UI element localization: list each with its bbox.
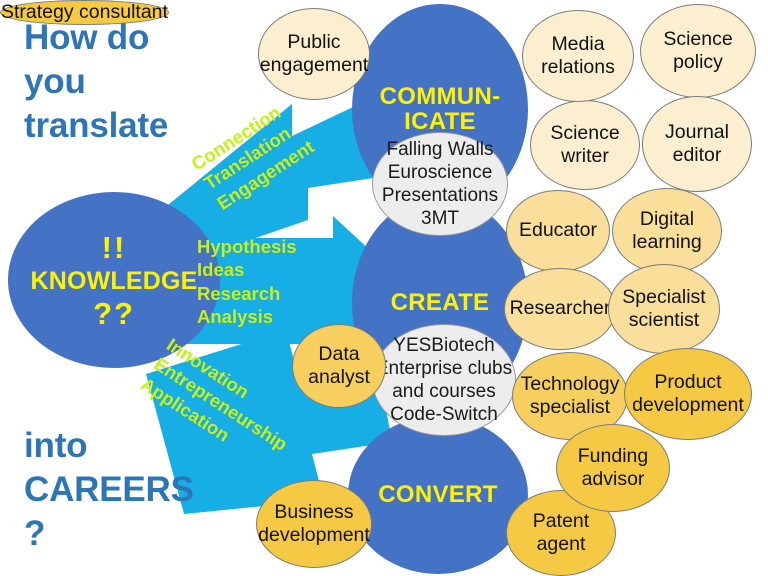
career-educator[interactable]: Educator [506,190,610,272]
hub-convert[interactable]: CONVERT [348,416,528,574]
diagram-canvas: Connection Translation Engagement Hypoth… [0,0,768,576]
hub-communicate-line2: ICATE [396,109,484,134]
career-digital-learning[interactable]: Digital learning [612,188,722,274]
examples-communicate: Falling Walls Euroscience Presentations … [372,132,508,236]
knowledge-label: KNOWLEDGE [30,269,197,294]
career-technology-specialist-label: Technology specialist [521,373,620,420]
page-title-answer: into CAREERS ? [24,424,194,556]
career-science-policy-label: Science policy [663,28,732,75]
career-media-relations-label: Media relations [541,33,615,80]
career-science-writer-label: Science writer [550,122,619,169]
career-science-policy[interactable]: Science policy [640,4,756,98]
career-journal-editor-label: Journal editor [665,121,729,168]
career-product-development-label: Product development [632,371,744,418]
examples-communicate-text: Falling Walls Euroscience Presentations … [382,138,498,231]
node-public-engagement[interactable]: Public engagement [258,8,370,100]
career-science-writer[interactable]: Science writer [530,100,640,190]
career-product-development[interactable]: Product development [624,348,752,440]
node-data-analyst[interactable]: Data analyst [292,324,386,408]
node-public-engagement-label: Public engagement [260,31,368,78]
hub-create-title: CREATE [383,290,498,315]
career-patent-agent-label: Patent agent [533,510,589,557]
career-funding-advisor-label: Funding advisor [578,445,648,492]
examples-create: YESBiotech Enterprise clubs and courses … [372,324,516,436]
hub-communicate-line1: COMMUN- [372,84,509,109]
career-media-relations[interactable]: Media relations [522,10,634,102]
node-business-development-label: Business development [258,501,370,548]
career-researcher[interactable]: Researcher [504,268,616,350]
arrow-create-label: Hypothesis Ideas Research Analysis [197,235,297,329]
node-data-analyst-label: Data analyst [308,343,370,390]
career-researcher-label: Researcher [510,297,611,320]
examples-create-text: YESBiotech Enterprise clubs and courses … [376,334,512,427]
career-specialist-scientist-label: Specialist scientist [622,286,705,333]
node-business-development[interactable]: Business development [256,480,372,568]
career-specialist-scientist[interactable]: Specialist scientist [608,264,720,354]
career-journal-editor[interactable]: Journal editor [642,96,752,192]
page-title-question: How do you translate [24,16,168,148]
knowledge-exclaim: !! [102,232,127,263]
knowledge-question: ?? [93,298,135,329]
career-digital-learning-label: Digital learning [632,208,701,255]
career-funding-advisor[interactable]: Funding advisor [556,424,670,512]
hub-convert-title: CONVERT [370,482,505,507]
career-educator-label: Educator [519,219,597,242]
